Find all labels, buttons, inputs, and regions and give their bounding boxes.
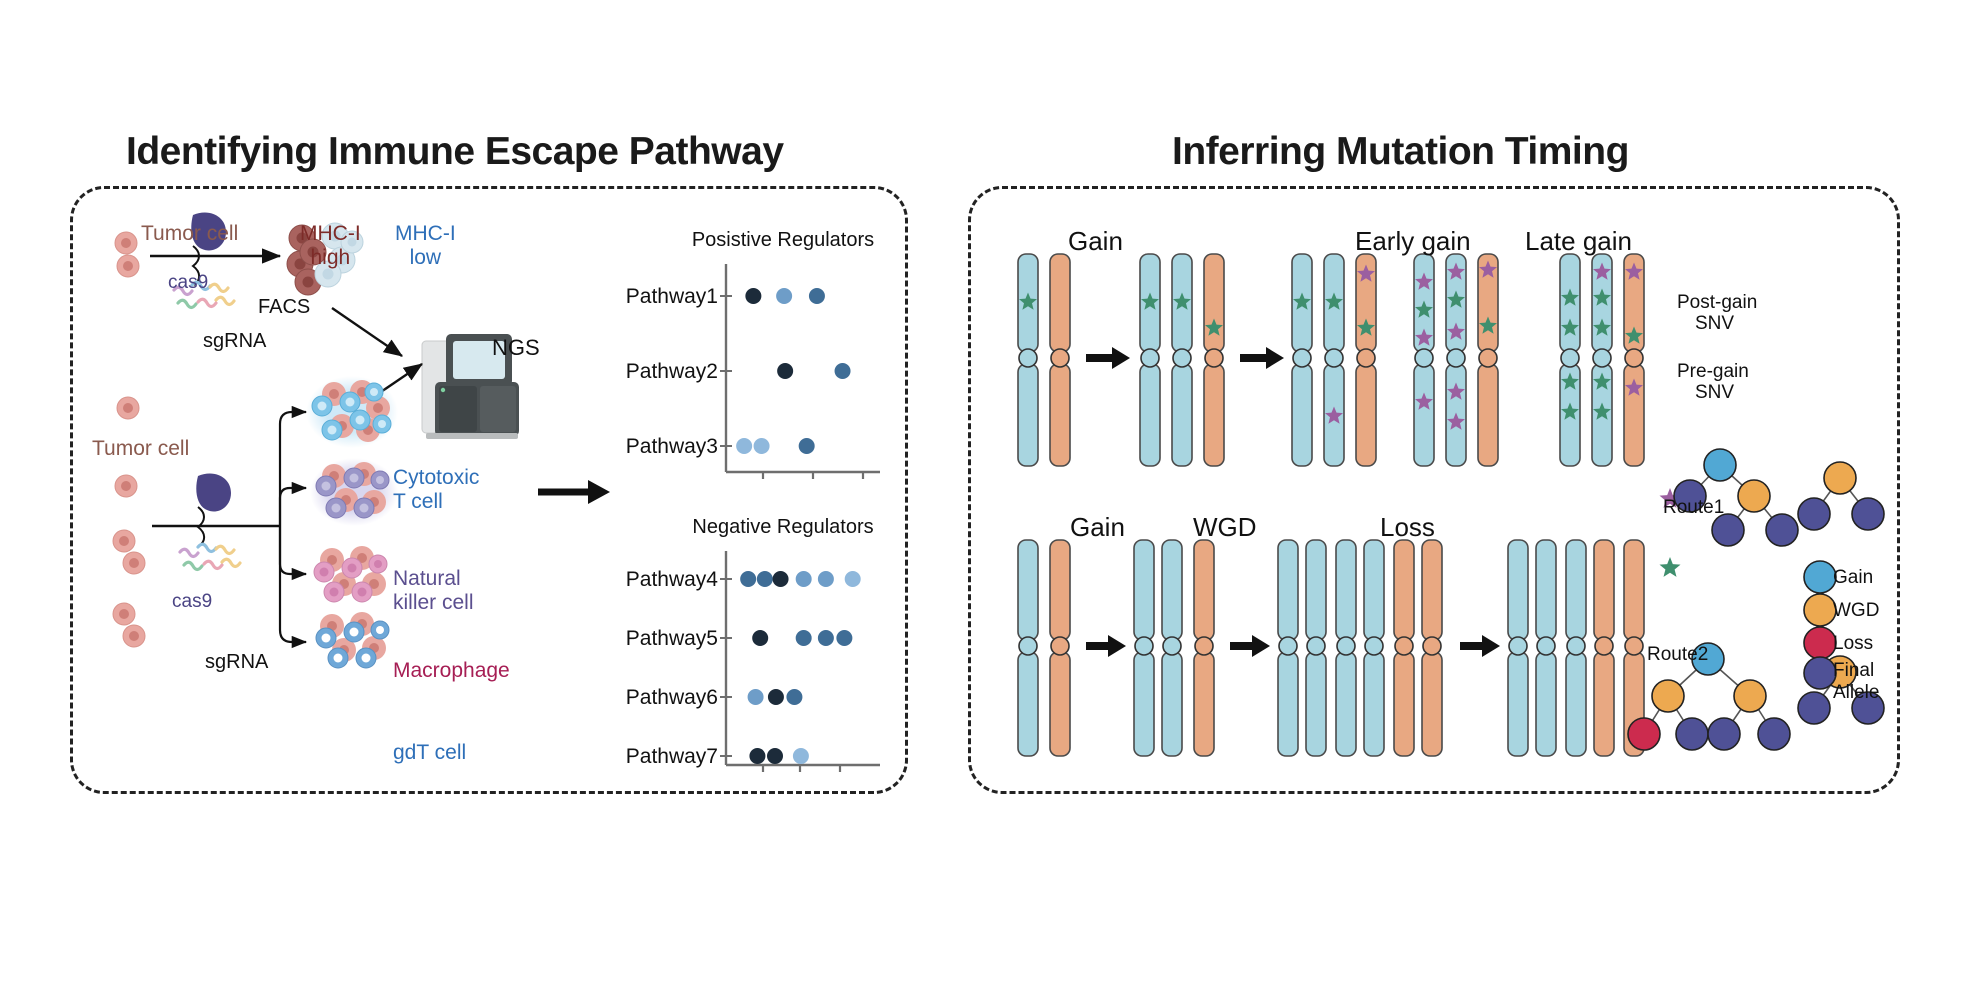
route2-label: Route2 (1647, 644, 1708, 665)
sgrna-icon-bottom (180, 544, 240, 569)
tree-node-wgd (1738, 480, 1770, 512)
tumor-cell-cluster-top (115, 232, 139, 277)
tumor-cell-label-bottom: Tumor cell (92, 437, 189, 461)
chromosome-icon (1414, 254, 1434, 466)
chromosome-icon (1194, 540, 1214, 756)
tree-node-final-allele (1676, 718, 1708, 750)
chromosome-icon (1364, 540, 1384, 756)
process-arrow (1460, 635, 1500, 657)
arrow-to-results (538, 480, 610, 504)
mhc-low-label: MHC-I low (395, 222, 456, 269)
dotplot-point (757, 571, 773, 587)
tree-node-final-allele (1758, 718, 1790, 750)
post-gain-snv-legend-label: Post-gain SNV (1677, 292, 1757, 335)
chromosome-icon (1446, 254, 1466, 466)
chromosome-icon (1134, 540, 1154, 756)
chromosome-icon (1204, 254, 1224, 466)
tree-node-final-allele (1712, 514, 1744, 546)
legend-swatch-wgd (1804, 594, 1836, 626)
final-allele-node-legend-label: Final Allele (1833, 660, 1879, 704)
chromosome-icon (1336, 540, 1356, 756)
branch-arrows (280, 412, 306, 642)
process-arrow (1240, 347, 1284, 369)
dotplot-point (809, 288, 825, 304)
tree-node-wgd (1734, 680, 1766, 712)
chromosome-icon (1050, 540, 1070, 756)
wgd-node-legend-label: WGD (1833, 600, 1879, 621)
pathway-row-label: Pathway3 (626, 435, 718, 458)
dotplot-point (836, 630, 852, 646)
chromosome-icon (1592, 254, 1612, 466)
dotplot-point (845, 571, 861, 587)
pre-gain-snv-star-icon (1660, 557, 1681, 577)
tree-node-final-allele (1766, 514, 1798, 546)
dotplot-point (793, 748, 809, 764)
positive-regulators-title: Posistive Regulators (692, 229, 874, 251)
chromosome-icon (1018, 254, 1038, 466)
tumor-cell-label-top: Tumor cell (141, 222, 238, 246)
chromosome-icon (1566, 540, 1586, 756)
loss-label: Loss (1380, 513, 1435, 542)
tree-node-wgd (1652, 680, 1684, 712)
dotplot-point (752, 630, 768, 646)
pre-gain-snv-legend-label: Pre-gain SNV (1677, 361, 1749, 404)
chromosome-icon (1292, 254, 1312, 466)
left-panel-title: Identifying Immune Escape Pathway (126, 130, 784, 174)
sgrna-label-bottom: sgRNA (205, 651, 268, 673)
chromosome-icon (1050, 254, 1070, 466)
chromosome-icon (1278, 540, 1298, 756)
loss-node-legend-label: Loss (1833, 633, 1873, 654)
gain-label-top: Gain (1068, 227, 1123, 256)
dotplot-point (818, 630, 834, 646)
pathway-row-label: Pathway2 (626, 360, 718, 383)
dotplot-point (835, 363, 851, 379)
chromosome-icon (1624, 254, 1644, 466)
gain-label-bottom: Gain (1070, 513, 1125, 542)
chromosome-icon (1478, 254, 1498, 466)
tree-node-wgd (1824, 462, 1856, 494)
legend-swatch-final-allele (1804, 657, 1836, 689)
chromosome-icon (1536, 540, 1556, 756)
tree-node-gain (1704, 449, 1736, 481)
dotplot-point (748, 689, 764, 705)
gdt-cell-cluster (316, 612, 389, 668)
chromosome-icon (1172, 254, 1192, 466)
tree-node-final-allele (1798, 498, 1830, 530)
tumor-cell-cluster-bottom (113, 397, 145, 647)
late-gain-label: Late gain (1525, 227, 1632, 256)
facs-label: FACS (258, 296, 310, 318)
wgd-label: WGD (1193, 513, 1257, 542)
process-arrow (1086, 635, 1126, 657)
cas9-icon-bottom (196, 473, 231, 511)
macrophage-cluster (314, 546, 387, 602)
chromosome-icon (1508, 540, 1528, 756)
dotplot-point (736, 438, 752, 454)
pathway-row-label: Pathway4 (626, 568, 719, 591)
process-arrow (1230, 635, 1270, 657)
process-arrow (1086, 347, 1130, 369)
dotplot-point (768, 689, 784, 705)
dotplot-point (776, 288, 792, 304)
dotplot-point (745, 288, 761, 304)
positive-regulators-dotplot: Posistive Regulators Pathway1Pathway2Pat… (608, 228, 898, 488)
mhc-high-label: MHC-I high (300, 222, 361, 269)
dotplot-point (754, 438, 770, 454)
natural-killer-cell-cluster (310, 458, 398, 526)
tree-node-final-allele (1708, 718, 1740, 750)
dotplot-point (777, 363, 793, 379)
legend-swatch-loss (1804, 627, 1836, 659)
chromosome-icon (1356, 254, 1376, 466)
dotplot-point (799, 438, 815, 454)
macrophage-label: Macrophage (393, 659, 510, 683)
tree-node-final-allele (1852, 498, 1884, 530)
chromosome-icon (1394, 540, 1414, 756)
negative-regulators-dotplot: Negative Regulators Pathway4Pathway5Path… (608, 503, 898, 793)
dotplot-point (749, 748, 765, 764)
right-panel-artwork (968, 186, 1900, 794)
dotplot-point (796, 630, 812, 646)
pathway-row-label: Pathway6 (626, 686, 718, 709)
chromosome-icon (1594, 540, 1614, 756)
cytotoxic-t-cell-cluster (306, 376, 398, 448)
chromosome-icon (1422, 540, 1442, 756)
chromosome-icon (1324, 254, 1344, 466)
ngs-label: NGS (492, 336, 540, 361)
gain-node-legend-label: Gain (1833, 567, 1873, 588)
legend-swatch-gain (1804, 561, 1836, 593)
pathway-row-label: Pathway5 (626, 627, 718, 650)
chromosome-icon (1140, 254, 1160, 466)
pathway-row-label: Pathway1 (626, 285, 718, 308)
dotplot-point (740, 571, 756, 587)
chromosome-icon (1306, 540, 1326, 756)
sgrna-label-top: sgRNA (203, 330, 266, 352)
right-panel-title: Inferring Mutation Timing (1172, 130, 1629, 174)
chromosome-icon (1018, 540, 1038, 756)
negative-regulators-title: Negative Regulators (692, 516, 873, 538)
gdt-cell-label: gdT cell (393, 741, 466, 765)
tree-node-final-allele (1798, 692, 1830, 724)
cytotoxic-t-cell-label: Cytotoxic T cell (393, 466, 479, 513)
route1-label: Route1 (1663, 497, 1724, 518)
pathway-row-label: Pathway7 (626, 745, 718, 768)
early-gain-label: Early gain (1355, 227, 1471, 256)
dotplot-point (773, 571, 789, 587)
dotplot-point (796, 571, 812, 587)
arrow-sorted-to-ngs (332, 308, 402, 356)
dotplot-point (818, 571, 834, 587)
cas9-label-top: cas9 (168, 272, 208, 293)
cas9-label-bottom: cas9 (172, 591, 212, 612)
chromosome-icon (1560, 254, 1580, 466)
dotplot-point (786, 689, 802, 705)
dotplot-point (767, 748, 783, 764)
chromosome-icon (1162, 540, 1182, 756)
tree-node-loss (1628, 718, 1660, 750)
natural-killer-cell-label: Natural killer cell (393, 567, 474, 614)
